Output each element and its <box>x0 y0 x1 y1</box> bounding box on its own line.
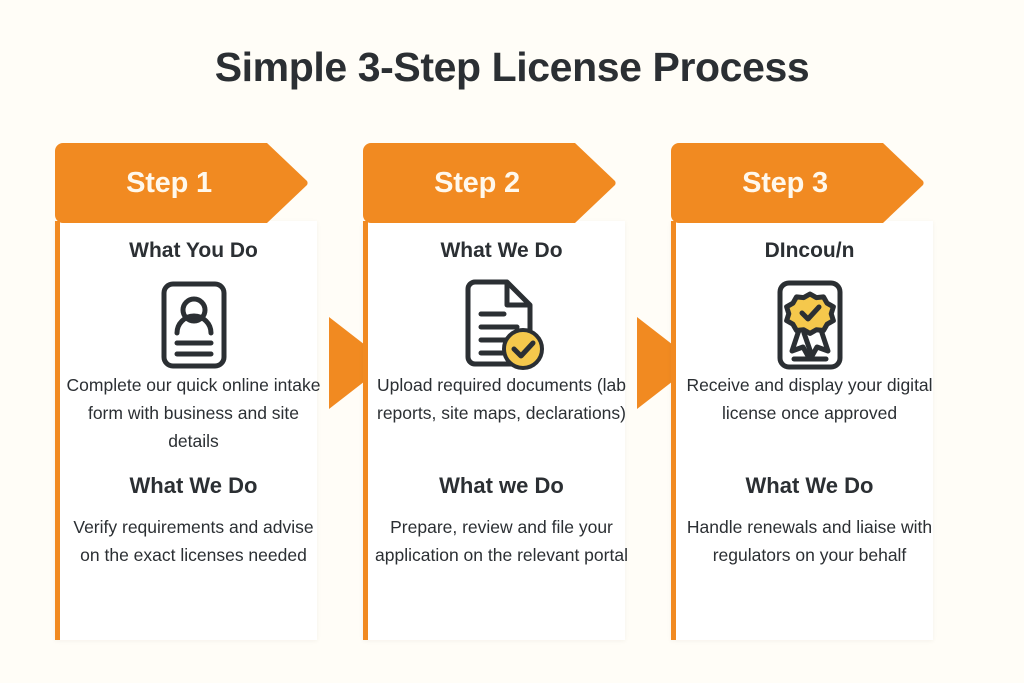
document-check-icon <box>373 279 630 371</box>
step-1-subheading: What You Do <box>65 239 322 263</box>
license-process-infographic: Simple 3-Step License Process What You D… <box>0 0 1024 683</box>
step-1-banner: Step 1 <box>55 143 310 223</box>
step-2-top-text: Upload required documents (lab reports, … <box>373 371 630 427</box>
certificate-award-icon <box>681 279 938 371</box>
step-3-label: Step 3 <box>671 143 899 223</box>
step-3-subheading: DIncou/n <box>681 239 938 263</box>
step-2-banner: Step 2 <box>363 143 618 223</box>
page-title: Simple 3-Step License Process <box>0 44 1024 91</box>
step-3-top-text: Receive and display your digital license… <box>681 371 938 427</box>
step-card-2-body: What We Do Upload required documents (la… <box>363 221 625 640</box>
person-form-icon <box>65 279 322 371</box>
step-2-second-heading: What we Do <box>373 473 630 499</box>
step-1-top-text: Complete our quick online intake form wi… <box>65 371 322 455</box>
step-card-1: What You Do Complete our quick online in… <box>55 143 317 640</box>
step-2-label: Step 2 <box>363 143 591 223</box>
step-2-subheading: What We Do <box>373 239 630 263</box>
step-3-second-heading: What We Do <box>681 473 938 499</box>
step-card-3: DIncou/n Receive and display your digita… <box>671 143 933 640</box>
step-2-bottom-text: Prepare, review and file your applicatio… <box>373 513 630 569</box>
step-card-2: What We Do Upload required documents (la… <box>363 143 625 640</box>
step-card-3-body: DIncou/n Receive and display your digita… <box>671 221 933 640</box>
step-1-second-heading: What We Do <box>65 473 322 499</box>
step-1-label: Step 1 <box>55 143 283 223</box>
step-3-bottom-text: Handle renewals and liaise with regulato… <box>681 513 938 569</box>
step-3-banner: Step 3 <box>671 143 926 223</box>
step-card-1-body: What You Do Complete our quick online in… <box>55 221 317 640</box>
step-1-bottom-text: Verify requirements and advise on the ex… <box>65 513 322 569</box>
